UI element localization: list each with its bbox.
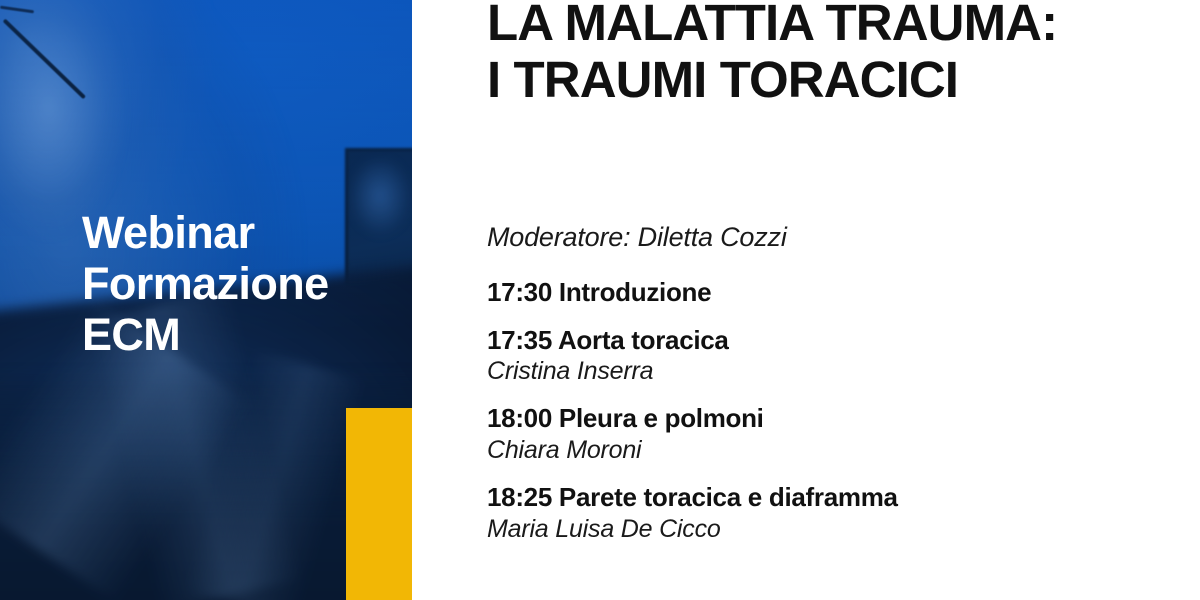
moderator-line: Moderatore: Diletta Cozzi (487, 222, 787, 253)
program-item: 18:25 Parete toracica e diaframma Maria … (487, 482, 1187, 544)
program-item-heading: 17:35 Aorta toracica (487, 325, 1187, 356)
page-title: LA MALATTIA TRAUMA: I TRAUMI TORACICI (487, 0, 1177, 108)
program-item-speaker: Chiara Moroni (487, 435, 1187, 465)
program-item-speaker: Cristina Inserra (487, 356, 1187, 386)
time-accent-bar: e 17:30 (346, 408, 412, 600)
program-item: 18:00 Pleura e polmoni Chiara Moroni (487, 403, 1187, 465)
program-item-heading: 17:30 Introduzione (487, 277, 1187, 308)
content-panel: LA MALATTIA TRAUMA: I TRAUMI TORACICI Mo… (412, 0, 1200, 600)
webinar-poster: Webinar Formazione ECM e 17:30 LA MALATT… (0, 0, 1200, 600)
program-list: 17:30 Introduzione 17:35 Aorta toracica … (487, 277, 1187, 561)
webinar-heading: Webinar Formazione ECM (82, 208, 402, 361)
program-item-heading: 18:25 Parete toracica e diaframma (487, 482, 1187, 513)
program-item: 17:35 Aorta toracica Cristina Inserra (487, 325, 1187, 387)
program-item-heading: 18:00 Pleura e polmoni (487, 403, 1187, 434)
program-item: 17:30 Introduzione (487, 277, 1187, 308)
program-item-speaker: Maria Luisa De Cicco (487, 514, 1187, 544)
